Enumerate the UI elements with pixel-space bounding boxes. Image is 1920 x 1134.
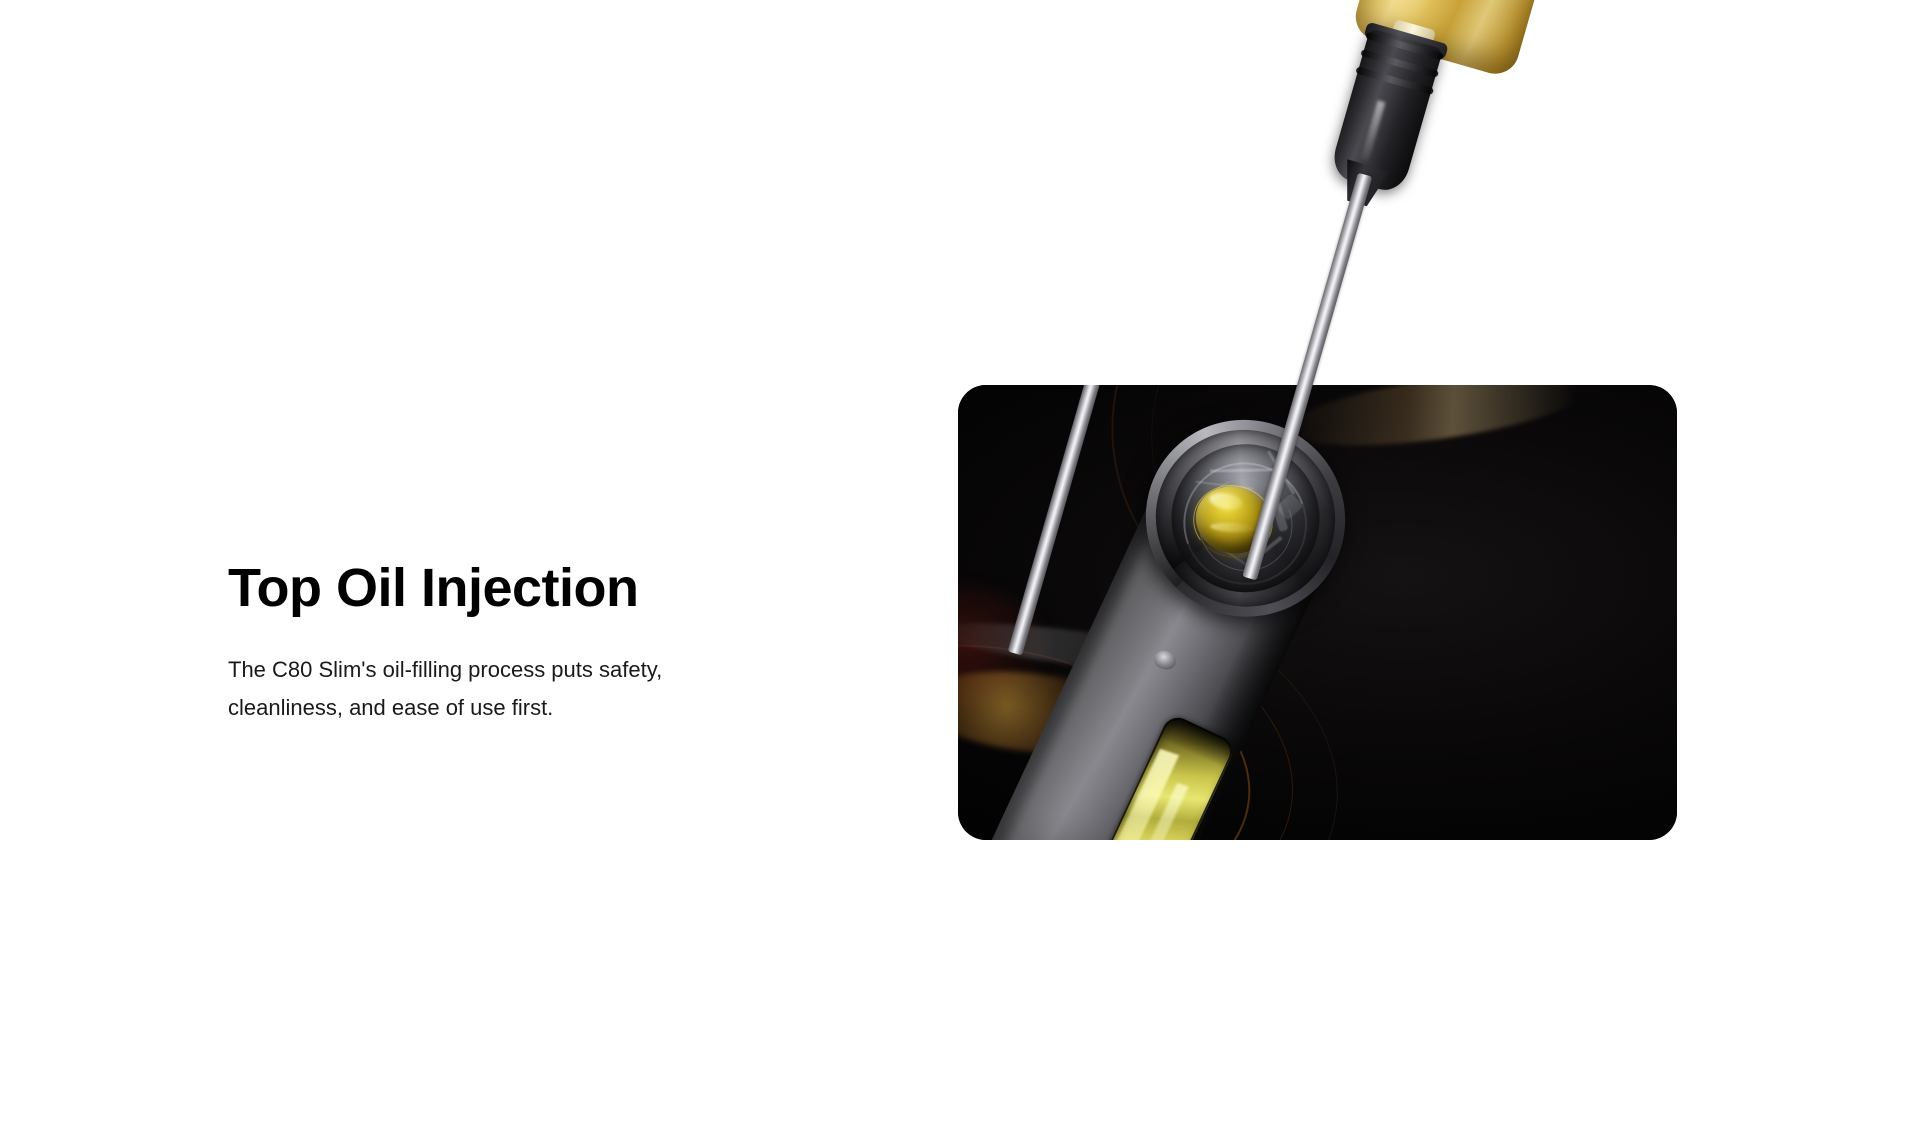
page-title: Top Oil Injection <box>228 560 788 617</box>
barrel-highlight <box>1380 0 1465 25</box>
feature-text-block: Top Oil Injection The C80 Slim's oil-fil… <box>228 560 788 726</box>
needle-shaft <box>1242 173 1372 581</box>
feature-description: The C80 Slim's oil-filling process puts … <box>228 651 748 727</box>
page-root: Top Oil Injection The C80 Slim's oil-fil… <box>0 0 1920 1134</box>
